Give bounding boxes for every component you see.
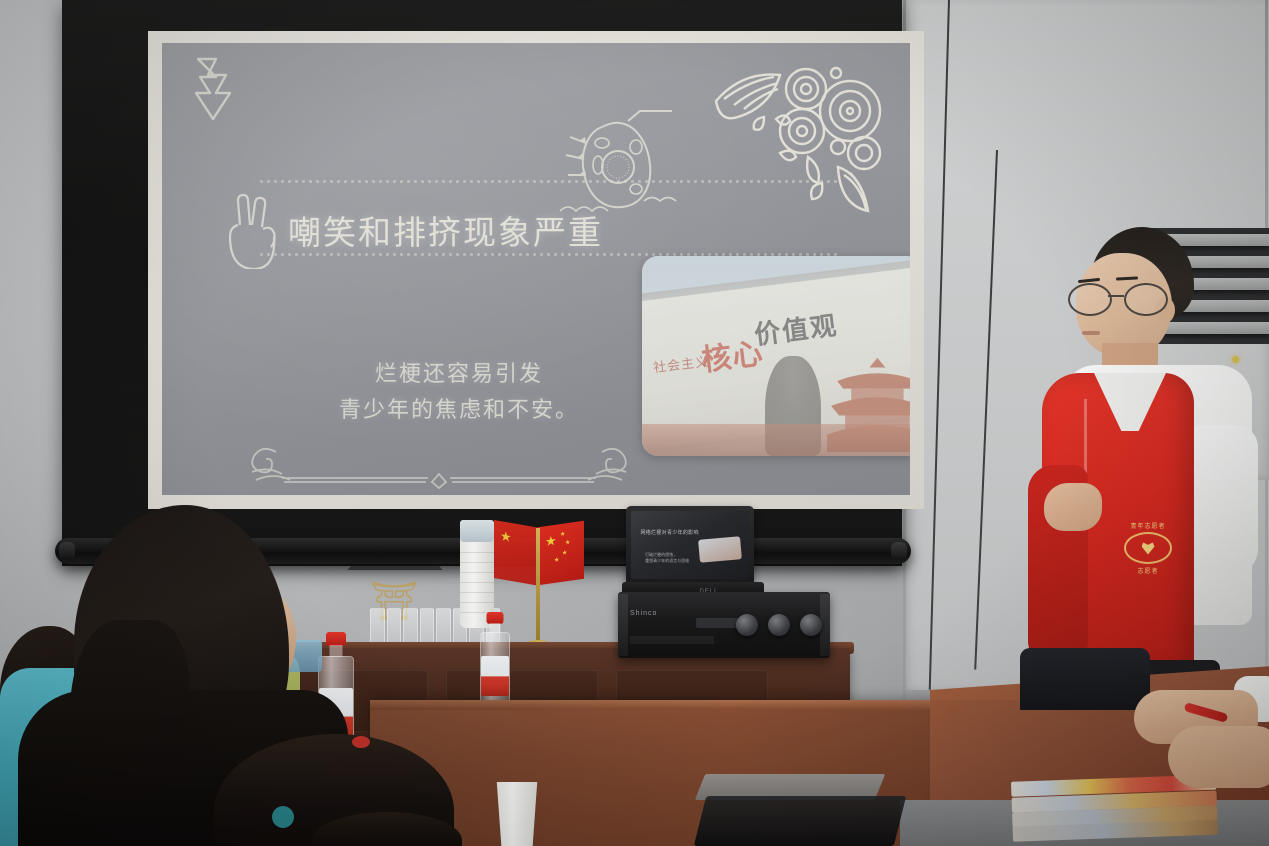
vest-volunteer-logo: 青年志愿者 志愿者 — [1114, 521, 1182, 575]
projection-screen: 嘲笑和排挤现象严重 烂梗还容易引发 青少年的焦虑和不安。 — [62, 0, 902, 566]
laptop-screen: 网络烂梗对青少年的影响 打破烂梗的侵蚀， 重塑青少年的语言与思维 — [631, 511, 749, 579]
roller-knob-right — [891, 542, 907, 560]
projection-canvas: 嘲笑和排挤现象严重 烂梗还容易引发 青少年的焦虑和不安。 — [148, 31, 924, 509]
presenter-glasses — [1068, 283, 1174, 313]
inset-projection-wash — [642, 256, 910, 456]
laptop-slide-subtitle: 打破烂梗的侵蚀， 重塑青少年的语言与思维 — [645, 552, 689, 564]
vest-collar — [1094, 373, 1166, 431]
amp-knob-3[interactable] — [800, 614, 822, 636]
chinese-flag-left: ★ — [494, 520, 540, 586]
audience-earring — [272, 806, 294, 828]
laptop-slide-title: 网络烂梗对青少年的影响 — [640, 529, 698, 536]
audience-hair-clip — [352, 736, 370, 748]
table-glass-panel — [694, 796, 906, 846]
audience-right-arm-lower — [1168, 726, 1269, 788]
slide-body-text: 烂梗还容易引发 青少年的焦虑和不安。 — [294, 357, 624, 428]
flag-star: ★ — [500, 529, 512, 544]
cup-stack-lid — [460, 520, 494, 542]
photo-scene: 嘲笑和排挤现象严重 烂梗还容易引发 青少年的焦虑和不安。 — [0, 0, 1269, 846]
laptop-slide-thumbnail — [699, 536, 743, 563]
dotted-rule-top — [258, 180, 838, 183]
vest-logo-bottom-text: 志愿者 — [1137, 566, 1158, 575]
chinese-flag-right: ★ ★ ★ ★ ★ — [538, 521, 584, 585]
zigzag-down-arrow-icon — [186, 53, 242, 125]
laptop-sub-line-2: 重塑青少年的语言与思维 — [645, 558, 689, 564]
slide-headline-group: 嘲笑和排挤现象严重 — [224, 191, 603, 269]
slide-headline: 嘲笑和排挤现象严重 — [288, 206, 603, 254]
roller-knob-left — [59, 542, 75, 560]
rose-leaf-corner-icon — [698, 47, 910, 217]
slide-body-line-1: 烂梗还容易引发 — [294, 357, 624, 393]
av-amplifier[interactable]: Shinco — [618, 592, 830, 658]
presenter-person: 青年志愿者 志愿者 — [1020, 215, 1269, 715]
water-bottle-sideboard — [480, 612, 510, 704]
audience-right-arms — [1128, 672, 1269, 802]
presenter-mouth — [1082, 331, 1100, 335]
chinese-flag-stand: ★ ★ ★ ★ ★ ★ — [500, 518, 576, 658]
peace-hand-icon — [224, 191, 282, 269]
dell-laptop[interactable]: 网络烂梗对青少年的影响 打破烂梗的侵蚀， 重塑青少年的语言与思维 DELL — [626, 506, 762, 598]
presenter-hands — [1044, 483, 1102, 531]
presentation-slide: 嘲笑和排挤现象严重 烂梗还容易引发 青少年的焦虑和不安。 — [162, 43, 910, 495]
laptop-lid: 网络烂梗对青少年的影响 打破烂梗的侵蚀， 重塑青少年的语言与思维 — [626, 506, 754, 584]
flag-pole — [536, 528, 540, 646]
slide-body-line-2: 青少年的焦虑和不安。 — [294, 393, 624, 429]
flag-star: ★ — [545, 534, 557, 549]
presenter-sleeve-right — [1188, 425, 1258, 575]
swirl-divider-icon — [246, 438, 632, 492]
vest-logo-top-text: 青年志愿者 — [1130, 521, 1165, 530]
amp-disc-slot — [630, 636, 714, 644]
paper-cup-on-table — [494, 782, 540, 846]
amp-brand-label: Shinco — [630, 610, 657, 617]
vest-logo-heart-icon — [1124, 532, 1172, 564]
slide-inset-photo: 价值观 核心 社会主义 — [642, 256, 910, 456]
amp-knob-2[interactable] — [768, 614, 790, 636]
amp-knob-1[interactable] — [736, 614, 758, 636]
